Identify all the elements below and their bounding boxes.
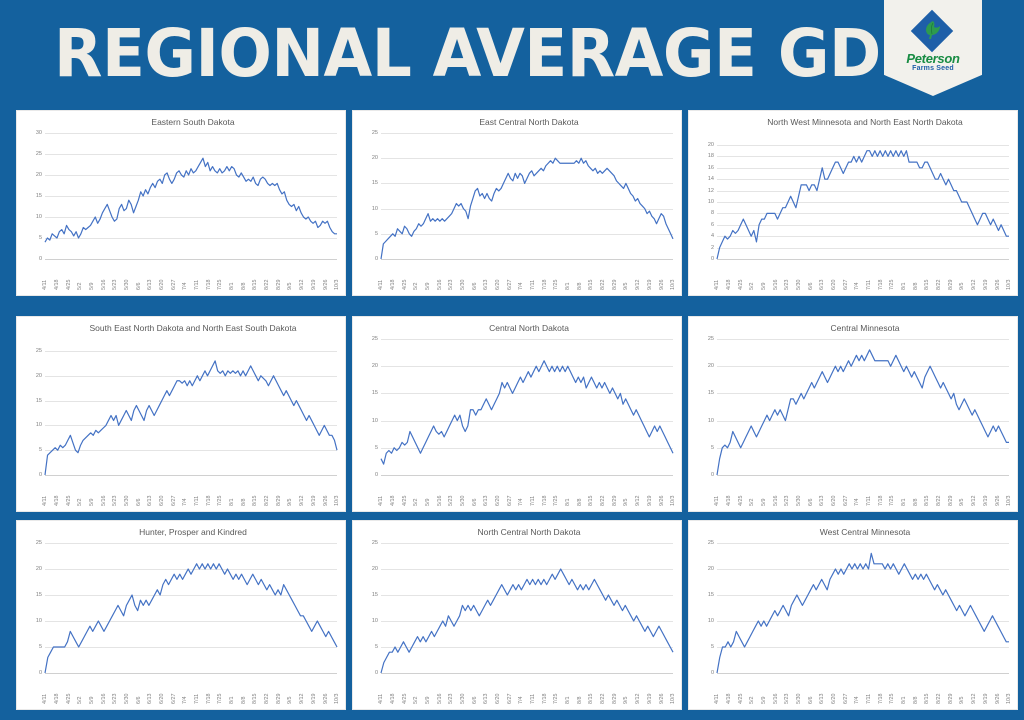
series-line	[45, 543, 337, 673]
chart-title: Eastern South Dakota	[51, 117, 335, 128]
x-tick-label: 8/1	[565, 697, 571, 705]
x-axis-labels: 4/114/184/255/25/95/165/235/306/66/136/2…	[717, 673, 1009, 705]
y-tick-label: 25	[36, 348, 42, 354]
x-tick-label: 4/25	[738, 496, 744, 507]
chart-title: Central North Dakota	[387, 323, 671, 334]
y-tick-label: 25	[372, 540, 378, 546]
y-tick-label: 20	[372, 155, 378, 161]
x-tick-label: 8/8	[913, 283, 919, 291]
y-tick-label: 0	[39, 670, 42, 676]
y-tick-label: 20	[708, 142, 714, 148]
x-tick-label: 4/25	[66, 496, 72, 507]
x-tick-label: 5/23	[448, 694, 454, 705]
y-axis-labels: 0510152025	[357, 339, 381, 475]
x-tick-label: 9/5	[959, 499, 965, 507]
x-tick-label: 7/11	[530, 280, 536, 290]
x-tick-label: 8/1	[901, 499, 907, 507]
y-tick-label: 5	[375, 231, 378, 237]
x-axis-labels: 4/114/184/255/25/95/165/235/306/66/136/2…	[717, 475, 1009, 507]
x-tick-label: 4/25	[402, 496, 408, 507]
series-line	[717, 145, 1009, 259]
x-tick-label: 5/2	[749, 697, 755, 705]
x-tick-label: 5/9	[425, 499, 431, 507]
x-tick-label: 9/26	[659, 280, 665, 291]
x-tick-label: 6/27	[507, 694, 513, 705]
x-tick-label: 5/30	[460, 694, 466, 705]
x-tick-label: 7/4	[182, 283, 188, 291]
y-tick-label: 15	[36, 193, 42, 199]
plot-area: 0510152025	[357, 339, 677, 475]
x-tick-label: 7/25	[217, 496, 223, 507]
x-tick-label: 6/20	[495, 496, 501, 507]
x-tick-label: 8/8	[577, 499, 583, 507]
x-tick-label: 5/2	[77, 499, 83, 507]
x-tick-label: 6/27	[507, 280, 513, 291]
y-tick-label: 20	[372, 566, 378, 572]
x-tick-label: 7/4	[854, 697, 860, 705]
chart-panel-hunter-prosper-and-kindred: Hunter, Prosper and Kindred05101520254/1…	[16, 520, 346, 710]
y-tick-label: 10	[36, 618, 42, 624]
y-tick-label: 20	[708, 363, 714, 369]
x-tick-label: 4/18	[726, 280, 732, 291]
x-tick-label: 8/8	[241, 499, 247, 507]
x-tick-label: 5/16	[101, 496, 107, 507]
x-tick-label: 6/27	[843, 496, 849, 507]
leaf-diamond-icon	[913, 12, 953, 52]
x-tick-label: 8/1	[565, 283, 571, 291]
x-tick-label: 7/4	[518, 283, 524, 291]
x-tick-label: 6/6	[136, 283, 142, 291]
chart-panel-central-north-dakota: Central North Dakota05101520254/114/184/…	[352, 316, 682, 512]
x-tick-label: 10/3	[670, 496, 676, 507]
x-tick-label: 10/3	[334, 496, 340, 507]
x-tick-label: 9/19	[311, 694, 317, 705]
x-tick-label: 5/9	[89, 499, 95, 507]
x-tick-label: 9/26	[995, 280, 1001, 291]
x-tick-label: 4/11	[42, 496, 48, 506]
x-tick-label: 6/20	[831, 694, 837, 705]
page-title: REGIONAL AVERAGE GDUS	[54, 12, 902, 96]
x-tick-label: 4/25	[738, 694, 744, 705]
x-tick-label: 5/23	[112, 496, 118, 507]
x-tick-label: 7/18	[206, 280, 212, 291]
plot-area: 0510152025	[21, 351, 341, 475]
x-tick-label: 7/18	[542, 694, 548, 705]
y-tick-label: 10	[708, 418, 714, 424]
chart-panel-north-west-minnesota-and-north-east-north-dakota: North West Minnesota and North East Nort…	[688, 110, 1018, 296]
x-tick-label: 9/5	[623, 697, 629, 705]
x-tick-label: 8/22	[600, 694, 606, 705]
y-tick-label: 10	[372, 206, 378, 212]
x-tick-label: 5/2	[413, 697, 419, 705]
y-tick-label: 10	[372, 618, 378, 624]
series-line	[45, 133, 337, 259]
y-tick-label: 0	[375, 256, 378, 262]
y-tick-label: 12	[708, 188, 714, 194]
plot-area: 0510152025	[693, 543, 1013, 673]
y-tick-label: 0	[375, 472, 378, 478]
y-axis-labels: 051015202530	[21, 133, 45, 259]
x-tick-label: 5/9	[425, 697, 431, 705]
x-tick-label: 6/13	[147, 280, 153, 291]
chart-title: East Central North Dakota	[387, 117, 671, 128]
x-tick-label: 6/20	[159, 694, 165, 705]
x-tick-label: 9/5	[287, 697, 293, 705]
x-tick-label: 8/15	[252, 496, 258, 507]
x-tick-label: 8/1	[229, 283, 235, 291]
x-tick-label: 5/9	[761, 283, 767, 291]
x-tick-label: 5/23	[448, 496, 454, 507]
x-tick-label: 8/15	[588, 694, 594, 705]
y-tick-label: 0	[375, 670, 378, 676]
x-tick-label: 8/15	[924, 280, 930, 291]
x-tick-label: 8/22	[264, 496, 270, 507]
x-tick-label: 5/2	[413, 499, 419, 507]
x-axis-labels: 4/114/184/255/25/95/165/235/306/66/136/2…	[381, 673, 673, 705]
x-tick-label: 7/25	[889, 496, 895, 507]
x-tick-label: 6/13	[819, 496, 825, 507]
x-tick-label: 8/1	[229, 697, 235, 705]
x-tick-label: 4/11	[42, 694, 48, 704]
chart-title: North Central North Dakota	[387, 527, 671, 538]
x-axis-labels: 4/114/184/255/25/95/165/235/306/66/136/2…	[45, 475, 337, 507]
x-tick-label: 7/4	[182, 499, 188, 507]
x-tick-label: 8/29	[948, 280, 954, 291]
x-tick-label: 4/11	[378, 694, 384, 704]
x-tick-label: 10/3	[334, 280, 340, 291]
x-tick-label: 10/3	[670, 280, 676, 291]
x-tick-label: 5/23	[784, 496, 790, 507]
x-tick-label: 6/6	[472, 499, 478, 507]
chart-title: North West Minnesota and North East Nort…	[723, 117, 1007, 128]
y-tick-label: 10	[36, 422, 42, 428]
x-tick-label: 7/11	[194, 280, 200, 290]
y-axis-labels: 0510152025	[357, 543, 381, 673]
x-tick-label: 6/27	[843, 694, 849, 705]
x-tick-label: 7/25	[217, 280, 223, 291]
x-tick-label: 10/3	[334, 694, 340, 705]
x-tick-label: 8/15	[252, 280, 258, 291]
x-tick-label: 9/12	[635, 280, 641, 291]
x-tick-label: 8/1	[565, 499, 571, 507]
y-tick-label: 15	[708, 592, 714, 598]
y-tick-label: 25	[708, 540, 714, 546]
x-tick-label: 6/27	[843, 280, 849, 291]
y-tick-label: 0	[711, 670, 714, 676]
x-tick-label: 8/8	[241, 697, 247, 705]
x-tick-label: 7/18	[542, 496, 548, 507]
x-tick-label: 4/25	[66, 694, 72, 705]
x-tick-label: 9/5	[623, 499, 629, 507]
plot-box	[381, 543, 673, 673]
x-tick-label: 5/23	[448, 280, 454, 291]
x-tick-label: 5/9	[761, 697, 767, 705]
x-tick-label: 9/26	[659, 694, 665, 705]
x-tick-label: 4/18	[54, 280, 60, 291]
plot-area: 0510152025	[21, 543, 341, 673]
x-tick-label: 4/18	[54, 496, 60, 507]
series-line	[45, 351, 337, 475]
x-tick-label: 9/19	[983, 496, 989, 507]
series-line	[717, 543, 1009, 673]
x-tick-label: 4/18	[390, 496, 396, 507]
y-tick-label: 25	[372, 130, 378, 136]
logo-wordmark: Peterson	[884, 52, 982, 65]
plot-box	[45, 133, 337, 259]
y-tick-label: 25	[708, 336, 714, 342]
x-tick-label: 5/23	[784, 280, 790, 291]
x-tick-label: 8/29	[276, 280, 282, 291]
x-tick-label: 4/11	[42, 280, 48, 290]
plot-box	[381, 339, 673, 475]
series-line	[717, 339, 1009, 475]
x-tick-label: 6/6	[136, 499, 142, 507]
y-tick-label: 5	[375, 644, 378, 650]
plot-box	[717, 543, 1009, 673]
x-tick-label: 5/16	[773, 694, 779, 705]
x-tick-label: 5/16	[101, 694, 107, 705]
x-tick-label: 8/15	[588, 280, 594, 291]
x-tick-label: 9/12	[971, 280, 977, 291]
plot-area: 0510152025	[357, 543, 677, 673]
x-tick-label: 5/23	[112, 280, 118, 291]
x-tick-label: 10/3	[1006, 694, 1012, 705]
chart-panel-east-central-north-dakota: East Central North Dakota05101520254/114…	[352, 110, 682, 296]
x-tick-label: 8/29	[948, 496, 954, 507]
plot-area: 0510152025	[357, 133, 677, 259]
x-tick-label: 8/1	[229, 499, 235, 507]
y-tick-label: 0	[711, 472, 714, 478]
x-tick-label: 6/20	[831, 496, 837, 507]
x-tick-label: 9/19	[311, 496, 317, 507]
x-tick-label: 9/19	[647, 694, 653, 705]
x-tick-label: 5/16	[437, 496, 443, 507]
x-tick-label: 7/18	[878, 496, 884, 507]
y-tick-label: 20	[708, 566, 714, 572]
x-tick-label: 5/2	[413, 283, 419, 291]
x-tick-label: 5/16	[437, 694, 443, 705]
chart-grid: Eastern South Dakota0510152025304/114/18…	[0, 108, 1024, 720]
x-tick-label: 8/22	[264, 694, 270, 705]
y-tick-label: 18	[708, 153, 714, 159]
x-tick-label: 8/22	[936, 280, 942, 291]
plot-box	[45, 351, 337, 475]
y-tick-label: 25	[36, 540, 42, 546]
x-tick-label: 9/19	[983, 280, 989, 291]
x-tick-label: 4/11	[714, 496, 720, 506]
y-tick-label: 14	[708, 176, 714, 182]
x-tick-label: 9/26	[323, 280, 329, 291]
y-tick-label: 15	[372, 180, 378, 186]
x-tick-label: 5/9	[89, 283, 95, 291]
y-tick-label: 4	[711, 233, 714, 239]
x-tick-label: 5/9	[425, 283, 431, 291]
y-tick-label: 25	[372, 336, 378, 342]
x-tick-label: 9/12	[299, 496, 305, 507]
x-tick-label: 5/23	[112, 694, 118, 705]
x-tick-label: 5/30	[796, 496, 802, 507]
x-tick-label: 8/29	[612, 694, 618, 705]
x-tick-label: 7/18	[878, 694, 884, 705]
x-tick-label: 6/6	[808, 697, 814, 705]
x-tick-label: 5/16	[773, 280, 779, 291]
x-tick-label: 6/13	[819, 280, 825, 291]
x-tick-label: 9/26	[323, 694, 329, 705]
x-tick-label: 4/18	[726, 694, 732, 705]
chart-title: Central Minnesota	[723, 323, 1007, 334]
x-tick-label: 4/18	[726, 496, 732, 507]
x-tick-label: 7/18	[206, 496, 212, 507]
x-tick-label: 8/15	[924, 694, 930, 705]
x-tick-label: 5/16	[437, 280, 443, 291]
x-tick-label: 8/15	[588, 496, 594, 507]
y-tick-label: 20	[372, 363, 378, 369]
x-tick-label: 8/1	[901, 697, 907, 705]
x-tick-label: 7/11	[530, 496, 536, 506]
x-tick-label: 6/6	[808, 499, 814, 507]
x-tick-label: 7/25	[553, 280, 559, 291]
y-tick-label: 15	[372, 592, 378, 598]
x-tick-label: 9/19	[647, 496, 653, 507]
x-tick-label: 7/11	[194, 694, 200, 704]
y-axis-labels: 0510152025	[693, 339, 717, 475]
x-tick-label: 4/11	[378, 280, 384, 290]
x-tick-label: 6/6	[472, 697, 478, 705]
brand-logo: Peterson Farms Seed	[884, 0, 982, 96]
y-tick-label: 30	[36, 130, 42, 136]
y-tick-label: 15	[36, 592, 42, 598]
chart-panel-south-east-north-dakota-and-north-east-south-dakota: South East North Dakota and North East S…	[16, 316, 346, 512]
x-tick-label: 9/19	[311, 280, 317, 291]
x-tick-label: 8/29	[612, 496, 618, 507]
y-tick-label: 6	[711, 222, 714, 228]
x-tick-label: 4/18	[54, 694, 60, 705]
leaf-icon	[920, 18, 946, 44]
x-tick-label: 7/4	[518, 499, 524, 507]
series-line	[381, 133, 673, 259]
x-tick-label: 6/13	[147, 496, 153, 507]
y-tick-label: 15	[372, 390, 378, 396]
x-tick-label: 7/18	[206, 694, 212, 705]
series-line	[381, 339, 673, 475]
x-tick-label: 6/20	[159, 280, 165, 291]
plot-area: 051015202530	[21, 133, 341, 259]
x-tick-label: 8/15	[924, 496, 930, 507]
x-axis-labels: 4/114/184/255/25/95/165/235/306/66/136/2…	[45, 673, 337, 705]
y-tick-label: 0	[39, 472, 42, 478]
x-tick-label: 6/27	[171, 694, 177, 705]
x-tick-label: 10/3	[670, 694, 676, 705]
x-tick-label: 4/11	[378, 496, 384, 506]
x-tick-label: 4/18	[390, 694, 396, 705]
chart-title: West Central Minnesota	[723, 527, 1007, 538]
x-tick-label: 4/25	[66, 280, 72, 291]
x-tick-label: 6/6	[808, 283, 814, 291]
y-tick-label: 16	[708, 165, 714, 171]
y-axis-labels: 0510152025	[21, 351, 45, 475]
x-tick-label: 8/29	[612, 280, 618, 291]
x-tick-label: 6/20	[159, 496, 165, 507]
x-tick-label: 8/22	[936, 496, 942, 507]
x-axis-labels: 4/114/184/255/25/95/165/235/306/66/136/2…	[381, 259, 673, 291]
x-tick-label: 5/30	[460, 280, 466, 291]
poster-root: REGIONAL AVERAGE GDUS Peterson Farms See…	[0, 0, 1024, 720]
x-tick-label: 4/11	[714, 694, 720, 704]
y-tick-label: 5	[711, 445, 714, 451]
x-tick-label: 8/22	[600, 280, 606, 291]
x-axis-labels: 4/114/184/255/25/95/165/235/306/66/136/2…	[381, 475, 673, 507]
plot-box	[45, 543, 337, 673]
x-tick-label: 7/11	[866, 280, 872, 290]
x-tick-label: 8/1	[901, 283, 907, 291]
x-tick-label: 7/25	[553, 496, 559, 507]
x-tick-label: 8/22	[600, 496, 606, 507]
x-tick-label: 9/5	[959, 283, 965, 291]
x-tick-label: 9/26	[659, 496, 665, 507]
y-axis-labels: 02468101214161820	[693, 145, 717, 259]
x-tick-label: 4/25	[738, 280, 744, 291]
x-tick-label: 5/30	[796, 694, 802, 705]
x-tick-label: 8/8	[241, 283, 247, 291]
x-tick-label: 9/19	[983, 694, 989, 705]
header: REGIONAL AVERAGE GDUS Peterson Farms See…	[0, 0, 1024, 108]
plot-area: 0510152025	[693, 339, 1013, 475]
x-tick-label: 6/20	[495, 694, 501, 705]
x-tick-label: 9/5	[623, 283, 629, 291]
y-tick-label: 5	[375, 445, 378, 451]
x-tick-label: 7/4	[518, 697, 524, 705]
y-tick-label: 5	[39, 644, 42, 650]
plot-box	[717, 339, 1009, 475]
x-tick-label: 7/4	[182, 697, 188, 705]
x-tick-label: 8/22	[264, 280, 270, 291]
y-tick-label: 20	[36, 373, 42, 379]
chart-panel-west-central-minnesota: West Central Minnesota05101520254/114/18…	[688, 520, 1018, 710]
x-tick-label: 5/2	[77, 283, 83, 291]
x-tick-label: 8/29	[948, 694, 954, 705]
x-tick-label: 6/27	[507, 496, 513, 507]
x-tick-label: 7/11	[530, 694, 536, 704]
x-tick-label: 8/29	[276, 496, 282, 507]
y-axis-labels: 0510152025	[21, 543, 45, 673]
x-tick-label: 6/13	[819, 694, 825, 705]
x-tick-label: 9/12	[971, 496, 977, 507]
y-tick-label: 0	[39, 256, 42, 262]
x-tick-label: 9/5	[287, 283, 293, 291]
x-tick-label: 4/25	[402, 280, 408, 291]
x-tick-label: 9/12	[299, 694, 305, 705]
x-tick-label: 7/11	[866, 496, 872, 506]
x-tick-label: 4/25	[402, 694, 408, 705]
x-tick-label: 10/3	[1006, 280, 1012, 291]
plot-box	[717, 145, 1009, 259]
x-tick-label: 5/16	[101, 280, 107, 291]
x-tick-label: 9/26	[323, 496, 329, 507]
x-tick-label: 6/27	[171, 496, 177, 507]
y-tick-label: 10	[36, 214, 42, 220]
x-tick-label: 8/8	[577, 697, 583, 705]
x-tick-label: 7/25	[889, 694, 895, 705]
x-tick-label: 9/5	[959, 697, 965, 705]
chart-panel-central-minnesota: Central Minnesota05101520254/114/184/255…	[688, 316, 1018, 512]
x-tick-label: 7/25	[217, 694, 223, 705]
x-tick-label: 9/26	[995, 496, 1001, 507]
y-tick-label: 10	[708, 199, 714, 205]
x-tick-label: 7/4	[854, 283, 860, 291]
x-tick-label: 5/9	[89, 697, 95, 705]
x-tick-label: 8/8	[913, 697, 919, 705]
logo-tagline: Farms Seed	[884, 65, 982, 73]
